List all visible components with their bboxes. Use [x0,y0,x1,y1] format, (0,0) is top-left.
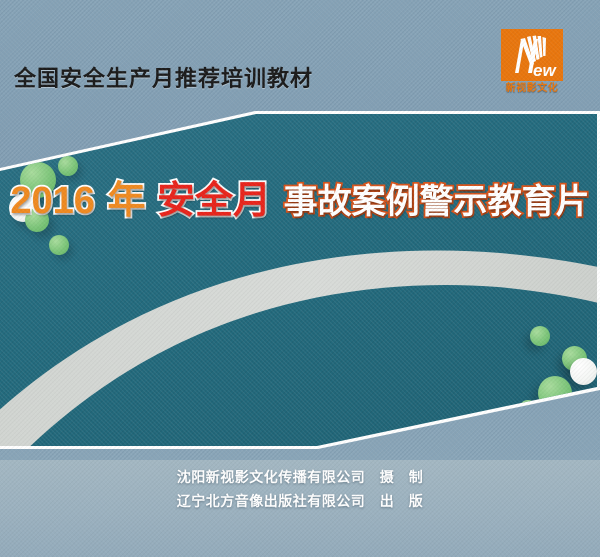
header: 全国安全生产月推荐培训教材 ew [0,0,600,110]
headline-year: 2016 [10,182,95,220]
credits-block: 沈阳新视影文化传播有限公司 摄 制 辽宁北方音像出版社有限公司 出 版 [0,465,600,513]
brand-logo: ew 新视影文化 [498,29,566,94]
headline-emphasis: 安全月 [157,182,271,220]
decor-bubble [530,326,550,346]
bottom-band: 沈阳新视影文化传播有限公司 摄 制 辽宁北方音像出版社有限公司 出 版 [0,460,600,557]
brand-subtitle: 新视影文化 [498,84,566,94]
swoosh-graphic [0,195,600,460]
feature-panel [0,100,600,460]
headline-subject: 事故案例警示教育片 [284,185,590,219]
headline-year-unit: 年 [107,182,145,220]
decor-bubble [570,358,597,385]
new-logo-mark: ew [501,29,563,81]
page-title: 全国安全生产月推荐培训教材 [14,68,313,90]
decor-bubble [49,235,69,255]
credit-line-producer: 沈阳新视影文化传播有限公司 摄 制 [0,465,600,489]
new-logo-icon: ew [501,29,563,81]
credit-line-publisher: 辽宁北方音像出版社有限公司 出 版 [0,489,600,513]
decor-bubble [538,376,572,410]
poster-canvas: 全国安全生产月推荐培训教材 ew [0,0,600,557]
headline: 2016 年 安全月 事故案例警示教育片 [0,182,600,220]
svg-text:ew: ew [533,61,557,80]
decor-bubble [58,156,78,176]
